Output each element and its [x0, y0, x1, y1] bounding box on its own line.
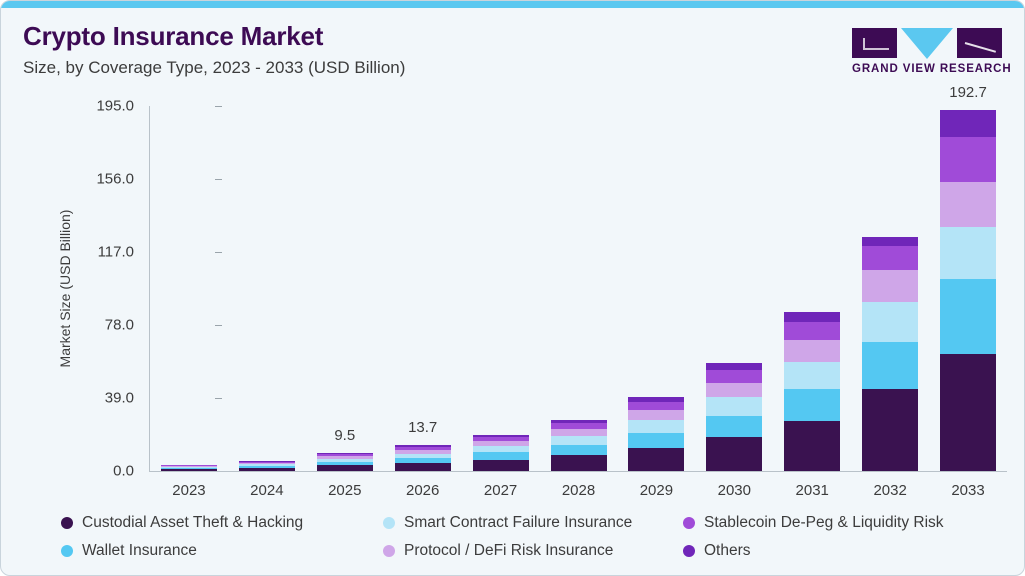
x-axis-tick-label: 2030: [694, 482, 774, 499]
bar-2025[interactable]: [317, 453, 373, 471]
legend-label: Wallet Insurance: [82, 542, 197, 560]
bar-segment[interactable]: [940, 182, 996, 227]
legend-color-dot-icon: [683, 545, 695, 557]
y-axis-tick-mark: [215, 179, 222, 180]
y-axis-tick-label: 117.0: [74, 244, 134, 261]
legend-label: Protocol / DeFi Risk Insurance: [404, 542, 613, 560]
x-axis-tick-label: 2031: [772, 482, 852, 499]
bar-segment[interactable]: [784, 389, 840, 421]
bar-chart-plot: Market Size (USD Billion) 0.039.078.0117…: [1, 1, 1025, 576]
legend-color-dot-icon: [683, 517, 695, 529]
legend-color-dot-icon: [383, 545, 395, 557]
bar-segment[interactable]: [473, 452, 529, 459]
bar-segment[interactable]: [784, 340, 840, 362]
y-axis-tick-label: 39.0: [74, 390, 134, 407]
bar-segment[interactable]: [706, 437, 762, 471]
bar-segment[interactable]: [940, 279, 996, 354]
y-axis-tick-label: 156.0: [74, 171, 134, 188]
bar-segment[interactable]: [862, 389, 918, 471]
y-axis-tick-mark: [215, 106, 222, 107]
legend-item[interactable]: Custodial Asset Theft & Hacking: [61, 514, 303, 532]
y-axis-ticks: 0.039.078.0117.0156.0195.0: [74, 1, 134, 576]
bar-segment[interactable]: [628, 433, 684, 448]
bar-2024[interactable]: [239, 461, 295, 471]
bar-value-label: 9.5: [305, 427, 385, 444]
bar-segment[interactable]: [862, 342, 918, 389]
legend-color-dot-icon: [61, 545, 73, 557]
bar-segment[interactable]: [628, 420, 684, 433]
y-axis-tick-mark: [215, 252, 222, 253]
x-axis-tick-label: 2027: [461, 482, 541, 499]
bar-segment[interactable]: [940, 137, 996, 182]
bar-2026[interactable]: [395, 445, 451, 471]
y-axis-tick-mark: [215, 325, 222, 326]
bar-segment[interactable]: [940, 227, 996, 279]
x-axis-tick-label: 2024: [227, 482, 307, 499]
y-axis-line: [149, 106, 150, 472]
bar-segment[interactable]: [628, 410, 684, 420]
bar-segment[interactable]: [628, 402, 684, 411]
bar-segment[interactable]: [551, 455, 607, 471]
legend-item[interactable]: Stablecoin De-Peg & Liquidity Risk: [683, 514, 944, 532]
legend-label: Others: [704, 542, 751, 560]
bar-2033[interactable]: [940, 110, 996, 471]
legend-label: Stablecoin De-Peg & Liquidity Risk: [704, 514, 944, 532]
bar-value-label: 192.7: [928, 84, 1008, 101]
bar-segment[interactable]: [784, 312, 840, 322]
chart-legend: Custodial Asset Theft & HackingSmart Con…: [61, 514, 1011, 566]
bar-segment[interactable]: [706, 397, 762, 415]
y-axis-tick-label: 78.0: [74, 317, 134, 334]
bar-segment[interactable]: [784, 322, 840, 341]
legend-label: Custodial Asset Theft & Hacking: [82, 514, 303, 532]
legend-item[interactable]: Protocol / DeFi Risk Insurance: [383, 542, 613, 560]
bar-segment[interactable]: [628, 448, 684, 471]
bar-segment[interactable]: [940, 110, 996, 137]
bar-segment[interactable]: [239, 468, 295, 471]
bar-2023[interactable]: [161, 465, 217, 471]
bar-segment[interactable]: [862, 270, 918, 302]
bar-segment[interactable]: [473, 460, 529, 471]
bar-segment[interactable]: [551, 429, 607, 436]
x-axis-tick-label: 2029: [616, 482, 696, 499]
bar-2032[interactable]: [862, 237, 918, 471]
legend-label: Smart Contract Failure Insurance: [404, 514, 632, 532]
x-axis-tick-label: 2023: [149, 482, 229, 499]
bar-value-label: 13.7: [383, 419, 463, 436]
bar-2027[interactable]: [473, 435, 529, 471]
legend-color-dot-icon: [383, 517, 395, 529]
y-axis-tick-label: 0.0: [74, 463, 134, 480]
bar-segment[interactable]: [706, 383, 762, 398]
bar-segment[interactable]: [706, 370, 762, 383]
bar-segment[interactable]: [862, 246, 918, 269]
bar-segment[interactable]: [862, 302, 918, 342]
y-axis-tick-label: 195.0: [74, 98, 134, 115]
bar-segment[interactable]: [551, 436, 607, 445]
bar-2030[interactable]: [706, 363, 762, 471]
bar-segment[interactable]: [862, 237, 918, 246]
chart-card: Crypto Insurance Market Size, by Coverag…: [0, 0, 1025, 576]
x-axis-tick-label: 2032: [850, 482, 930, 499]
bar-2028[interactable]: [551, 420, 607, 471]
x-axis-line: [149, 471, 1007, 472]
x-axis-tick-label: 2028: [539, 482, 619, 499]
legend-item[interactable]: Wallet Insurance: [61, 542, 197, 560]
bar-segment[interactable]: [784, 362, 840, 389]
bar-segment[interactable]: [395, 463, 451, 471]
bar-2031[interactable]: [784, 312, 840, 471]
x-axis-tick-label: 2025: [305, 482, 385, 499]
x-axis-tick-label: 2033: [928, 482, 1008, 499]
y-axis-label: Market Size (USD Billion): [56, 106, 74, 471]
bar-2029[interactable]: [628, 397, 684, 471]
bar-segment[interactable]: [940, 354, 996, 471]
bar-segment[interactable]: [161, 469, 217, 471]
legend-item[interactable]: Others: [683, 542, 751, 560]
legend-color-dot-icon: [61, 517, 73, 529]
bar-segment[interactable]: [784, 421, 840, 471]
bar-segment[interactable]: [706, 416, 762, 438]
legend-item[interactable]: Smart Contract Failure Insurance: [383, 514, 632, 532]
bar-segment[interactable]: [551, 445, 607, 455]
bar-segment[interactable]: [317, 465, 373, 471]
y-axis-tick-mark: [215, 398, 222, 399]
x-axis-tick-label: 2026: [383, 482, 463, 499]
